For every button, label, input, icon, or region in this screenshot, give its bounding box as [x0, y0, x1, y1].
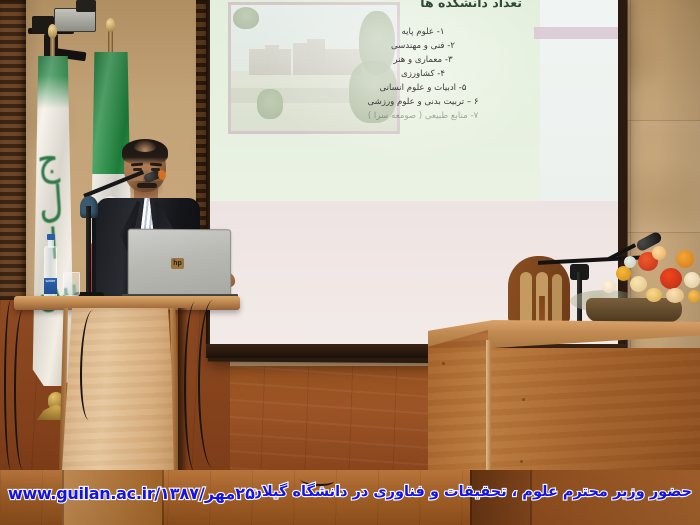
camera-lens: [76, 0, 96, 12]
flower: [646, 288, 662, 302]
flower: [666, 288, 684, 303]
microphone-stand-pole: [86, 206, 91, 298]
slide-faculty-list: ۱- علوم پایه ۲- فنی و مهندسی ۳- معماری و…: [328, 26, 518, 123]
table-screw: [520, 460, 523, 463]
slide-list-item: ۵- ادبیات و علوم انسانی: [328, 82, 518, 96]
caption-banner: حضور وزیر محترم علوم ، تحقیقات و فناوری …: [0, 470, 700, 525]
flagpole-finial: [106, 18, 115, 32]
cable: [198, 300, 228, 468]
flower: [688, 290, 700, 303]
flower: [684, 272, 700, 288]
flower-basket: [586, 298, 682, 322]
flower: [660, 268, 682, 289]
slide-accent-bar: [534, 27, 618, 39]
presenter-forehead: [133, 140, 157, 152]
table-corner-trim: [486, 340, 491, 470]
flower: [630, 276, 647, 292]
slide-list-item: ۷- منابع طبیعی ( صومعه سرا ): [328, 110, 518, 124]
drinking-glass: [63, 272, 80, 296]
water-bottle-label: water: [44, 278, 57, 294]
water-bottle-cap: [47, 234, 55, 240]
chair-slat: [552, 274, 562, 322]
banner-caption-text: حضور وزیر محترم علوم ، تحقیقات و فناوری …: [250, 484, 692, 500]
slide-list-item: ۴- کشاورزی: [328, 68, 518, 82]
projected-slide: تعداد دانشکده ها ۱- علوم پایه ۲- فنی و م…: [210, 0, 540, 201]
banner-date: ۲۵مهر/۱۳۸۷: [160, 484, 255, 503]
flagpole-finial: [48, 24, 57, 38]
table-screw: [442, 362, 445, 365]
cable: [4, 300, 18, 470]
slide-list-item: ۳- معماری و هنر: [328, 54, 518, 68]
website-url[interactable]: www.guilan.ac.ir: [8, 484, 154, 503]
table-screw: [522, 398, 525, 401]
slide-title: تعداد دانشکده ها: [420, 0, 522, 10]
wood-louver-panel-left: [0, 0, 26, 300]
presenter-mustache: [137, 183, 157, 188]
hp-logo-icon: hp: [171, 258, 184, 269]
slide-list-item: ۲- فنی و مهندسی: [328, 40, 518, 54]
flower: [652, 246, 666, 260]
flower: [676, 250, 694, 268]
slide-list-item: ۱- علوم پایه: [328, 26, 518, 40]
banner-url-and-date: www.guilan.ac.ir/۲۵مهر/۱۳۸۷: [8, 484, 255, 503]
flower: [624, 256, 636, 268]
flower: [602, 280, 616, 293]
flower: [616, 266, 631, 281]
chair-slat: [520, 272, 532, 322]
slide-list-item: ۶ – تربیت بدنی و علوم ورزشی: [328, 96, 518, 110]
photograph-canvas: تعداد دانشکده ها ۱- علوم پایه ۲- فنی و م…: [0, 0, 700, 525]
table-front-panel: [428, 348, 700, 470]
wall-tile: [631, 121, 700, 232]
